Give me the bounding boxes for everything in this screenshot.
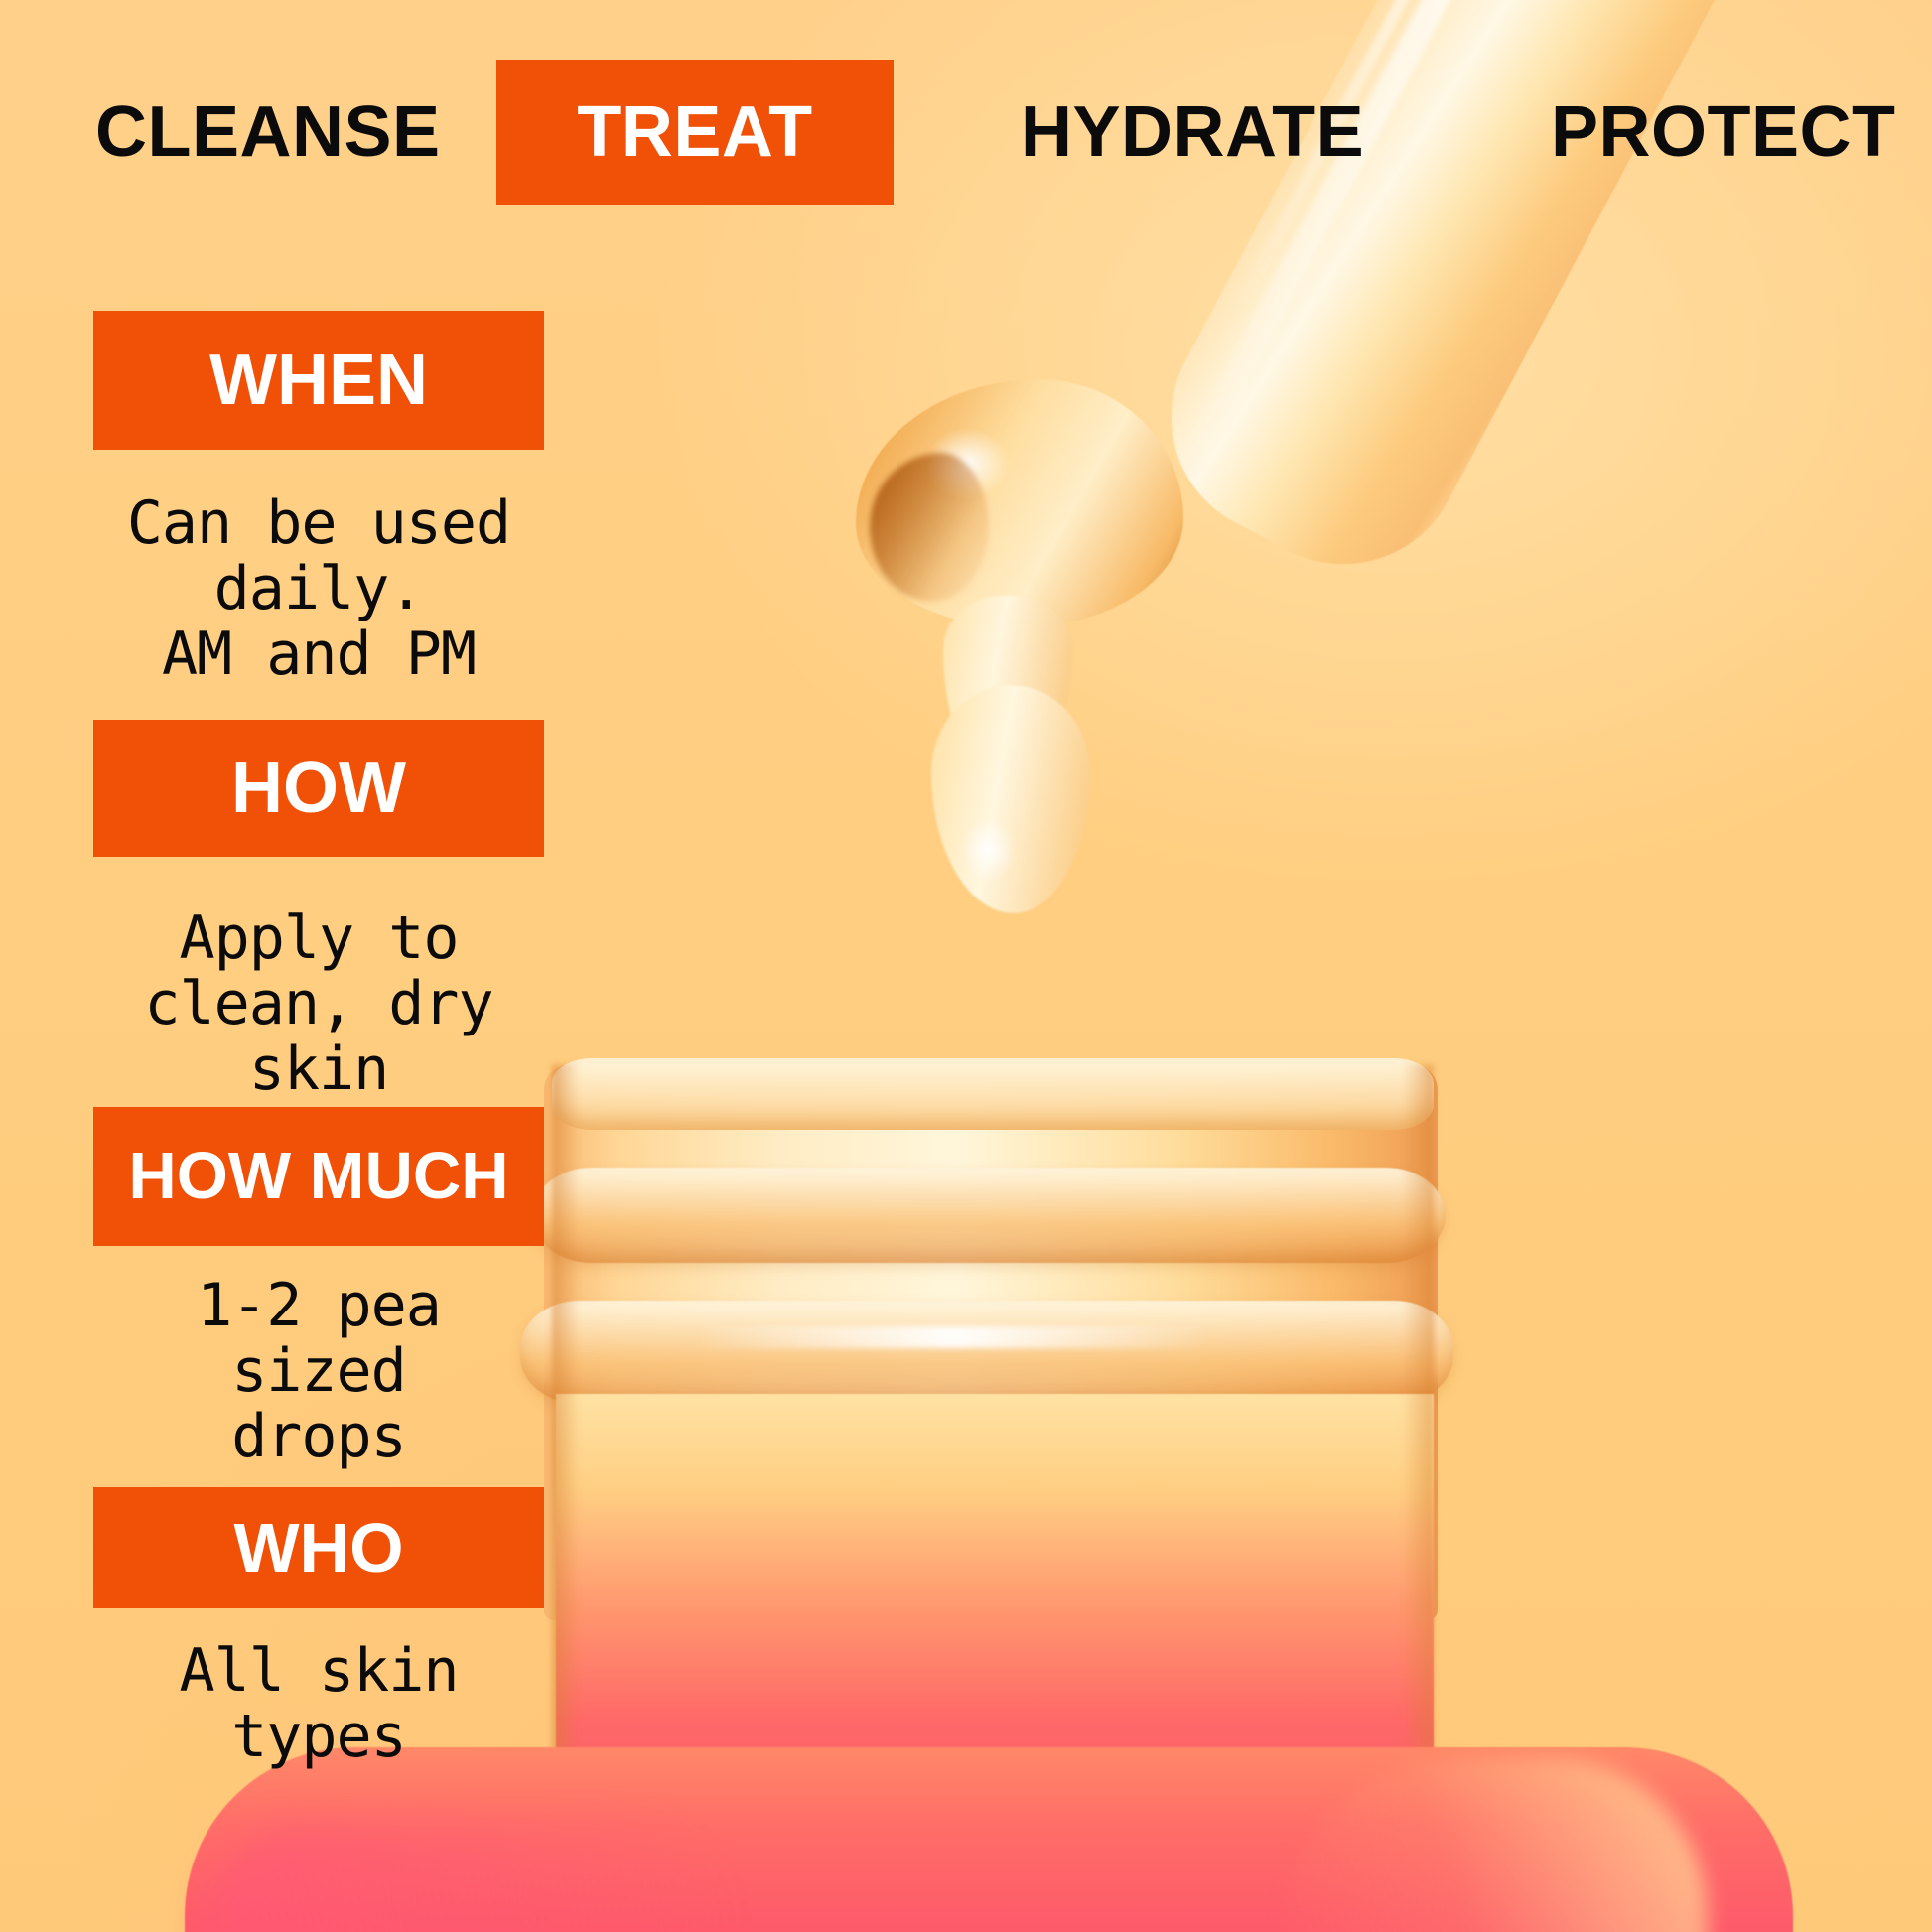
- badge-who: WHO: [93, 1487, 544, 1608]
- nav-item-cleanse[interactable]: CLEANSE: [95, 58, 441, 207]
- nav-item-hydrate[interactable]: HYDRATE: [1021, 58, 1364, 207]
- detail-text-who: All skin types: [73, 1638, 564, 1769]
- overlay-ui: CLEANSE TREAT HYDRATE PROTECT WHEN Can b…: [0, 0, 1932, 1932]
- badge-when: WHEN: [93, 311, 544, 450]
- badge-how: HOW: [93, 720, 544, 857]
- detail-text-when: Can be used daily. AM and PM: [73, 490, 564, 687]
- promo-graphic: CLEANSE TREAT HYDRATE PROTECT WHEN Can b…: [0, 0, 1932, 1932]
- badge-how-much: HOW MUCH: [93, 1107, 544, 1246]
- detail-text-how: Apply to clean, dry skin: [73, 905, 564, 1102]
- routine-step-nav: CLEANSE TREAT HYDRATE PROTECT: [0, 58, 1932, 207]
- nav-item-treat[interactable]: TREAT: [496, 60, 894, 205]
- nav-item-protect[interactable]: PROTECT: [1551, 58, 1896, 207]
- detail-text-how-much: 1-2 pea sized drops: [73, 1273, 564, 1469]
